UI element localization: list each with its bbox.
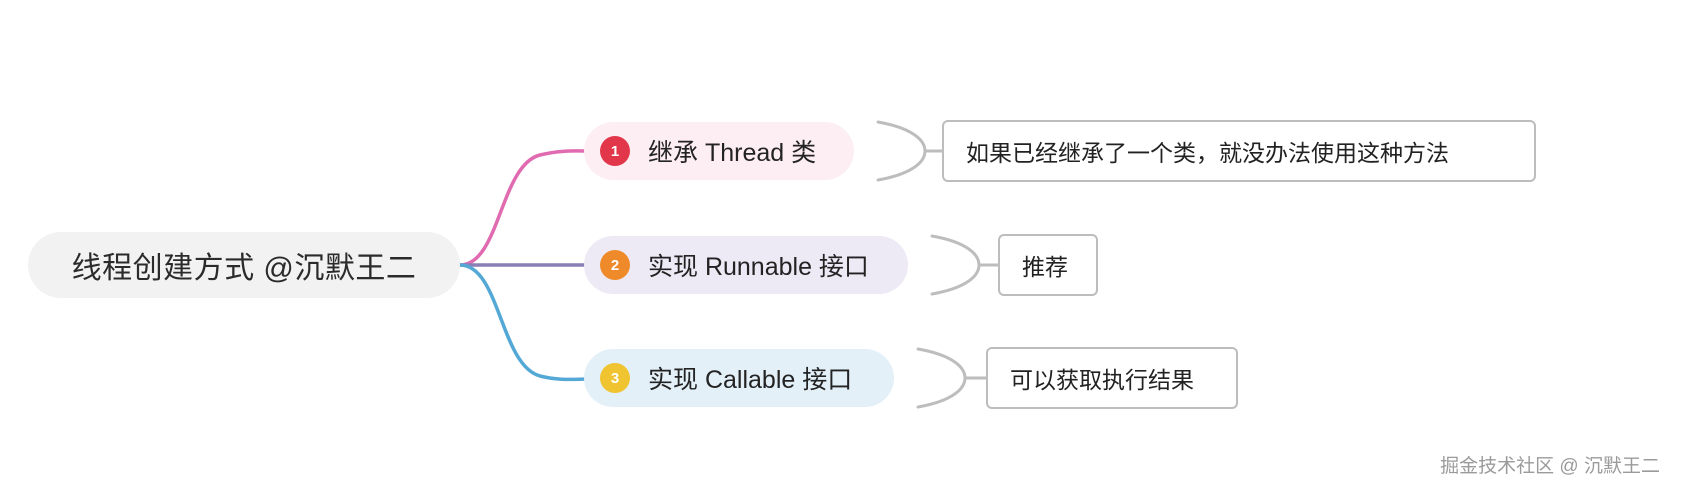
leaf-label-1: 如果已经继承了一个类，就没办法使用这种方法 [966, 134, 1449, 168]
mindmap-leaf-box-3[interactable]: 可以获取执行结果 [986, 347, 1238, 409]
mindmap-branch-node-3[interactable]: 3 实现 Callable 接口 [584, 349, 894, 407]
leaf-label-2: 推荐 [1022, 248, 1068, 282]
mindmap-leaf-box-1[interactable]: 如果已经继承了一个类，就没办法使用这种方法 [942, 120, 1536, 182]
branch-label-1: 继承 Thread 类 [648, 133, 816, 169]
branch-number-badge-3: 3 [600, 363, 630, 393]
edge-root-to-branch-3 [460, 265, 590, 379]
branch-label-3: 实现 Callable 接口 [648, 360, 852, 396]
leaf-label-3: 可以获取执行结果 [1010, 361, 1194, 395]
mindmap-root-node[interactable]: 线程创建方式 @沉默王二 [28, 232, 460, 298]
connector-brace-3 [918, 349, 965, 407]
mindmap-root-label: 线程创建方式 @沉默王二 [72, 243, 417, 287]
connector-brace-2 [932, 236, 979, 294]
branch-number-badge-1: 1 [600, 136, 630, 166]
branch-label-2: 实现 Runnable 接口 [648, 247, 869, 283]
mindmap-branch-node-1[interactable]: 1 继承 Thread 类 [584, 122, 854, 180]
watermark: 掘金技术社区 @ 沉默王二 [1440, 451, 1660, 478]
mindmap-canvas: 线程创建方式 @沉默王二 1 继承 Thread 类 2 实现 Runnable… [0, 0, 1688, 496]
connector-brace-1 [878, 122, 925, 180]
branch-number-badge-2: 2 [600, 250, 630, 280]
edge-root-to-branch-1 [460, 151, 590, 265]
mindmap-leaf-box-2[interactable]: 推荐 [998, 234, 1098, 296]
mindmap-branch-node-2[interactable]: 2 实现 Runnable 接口 [584, 236, 908, 294]
